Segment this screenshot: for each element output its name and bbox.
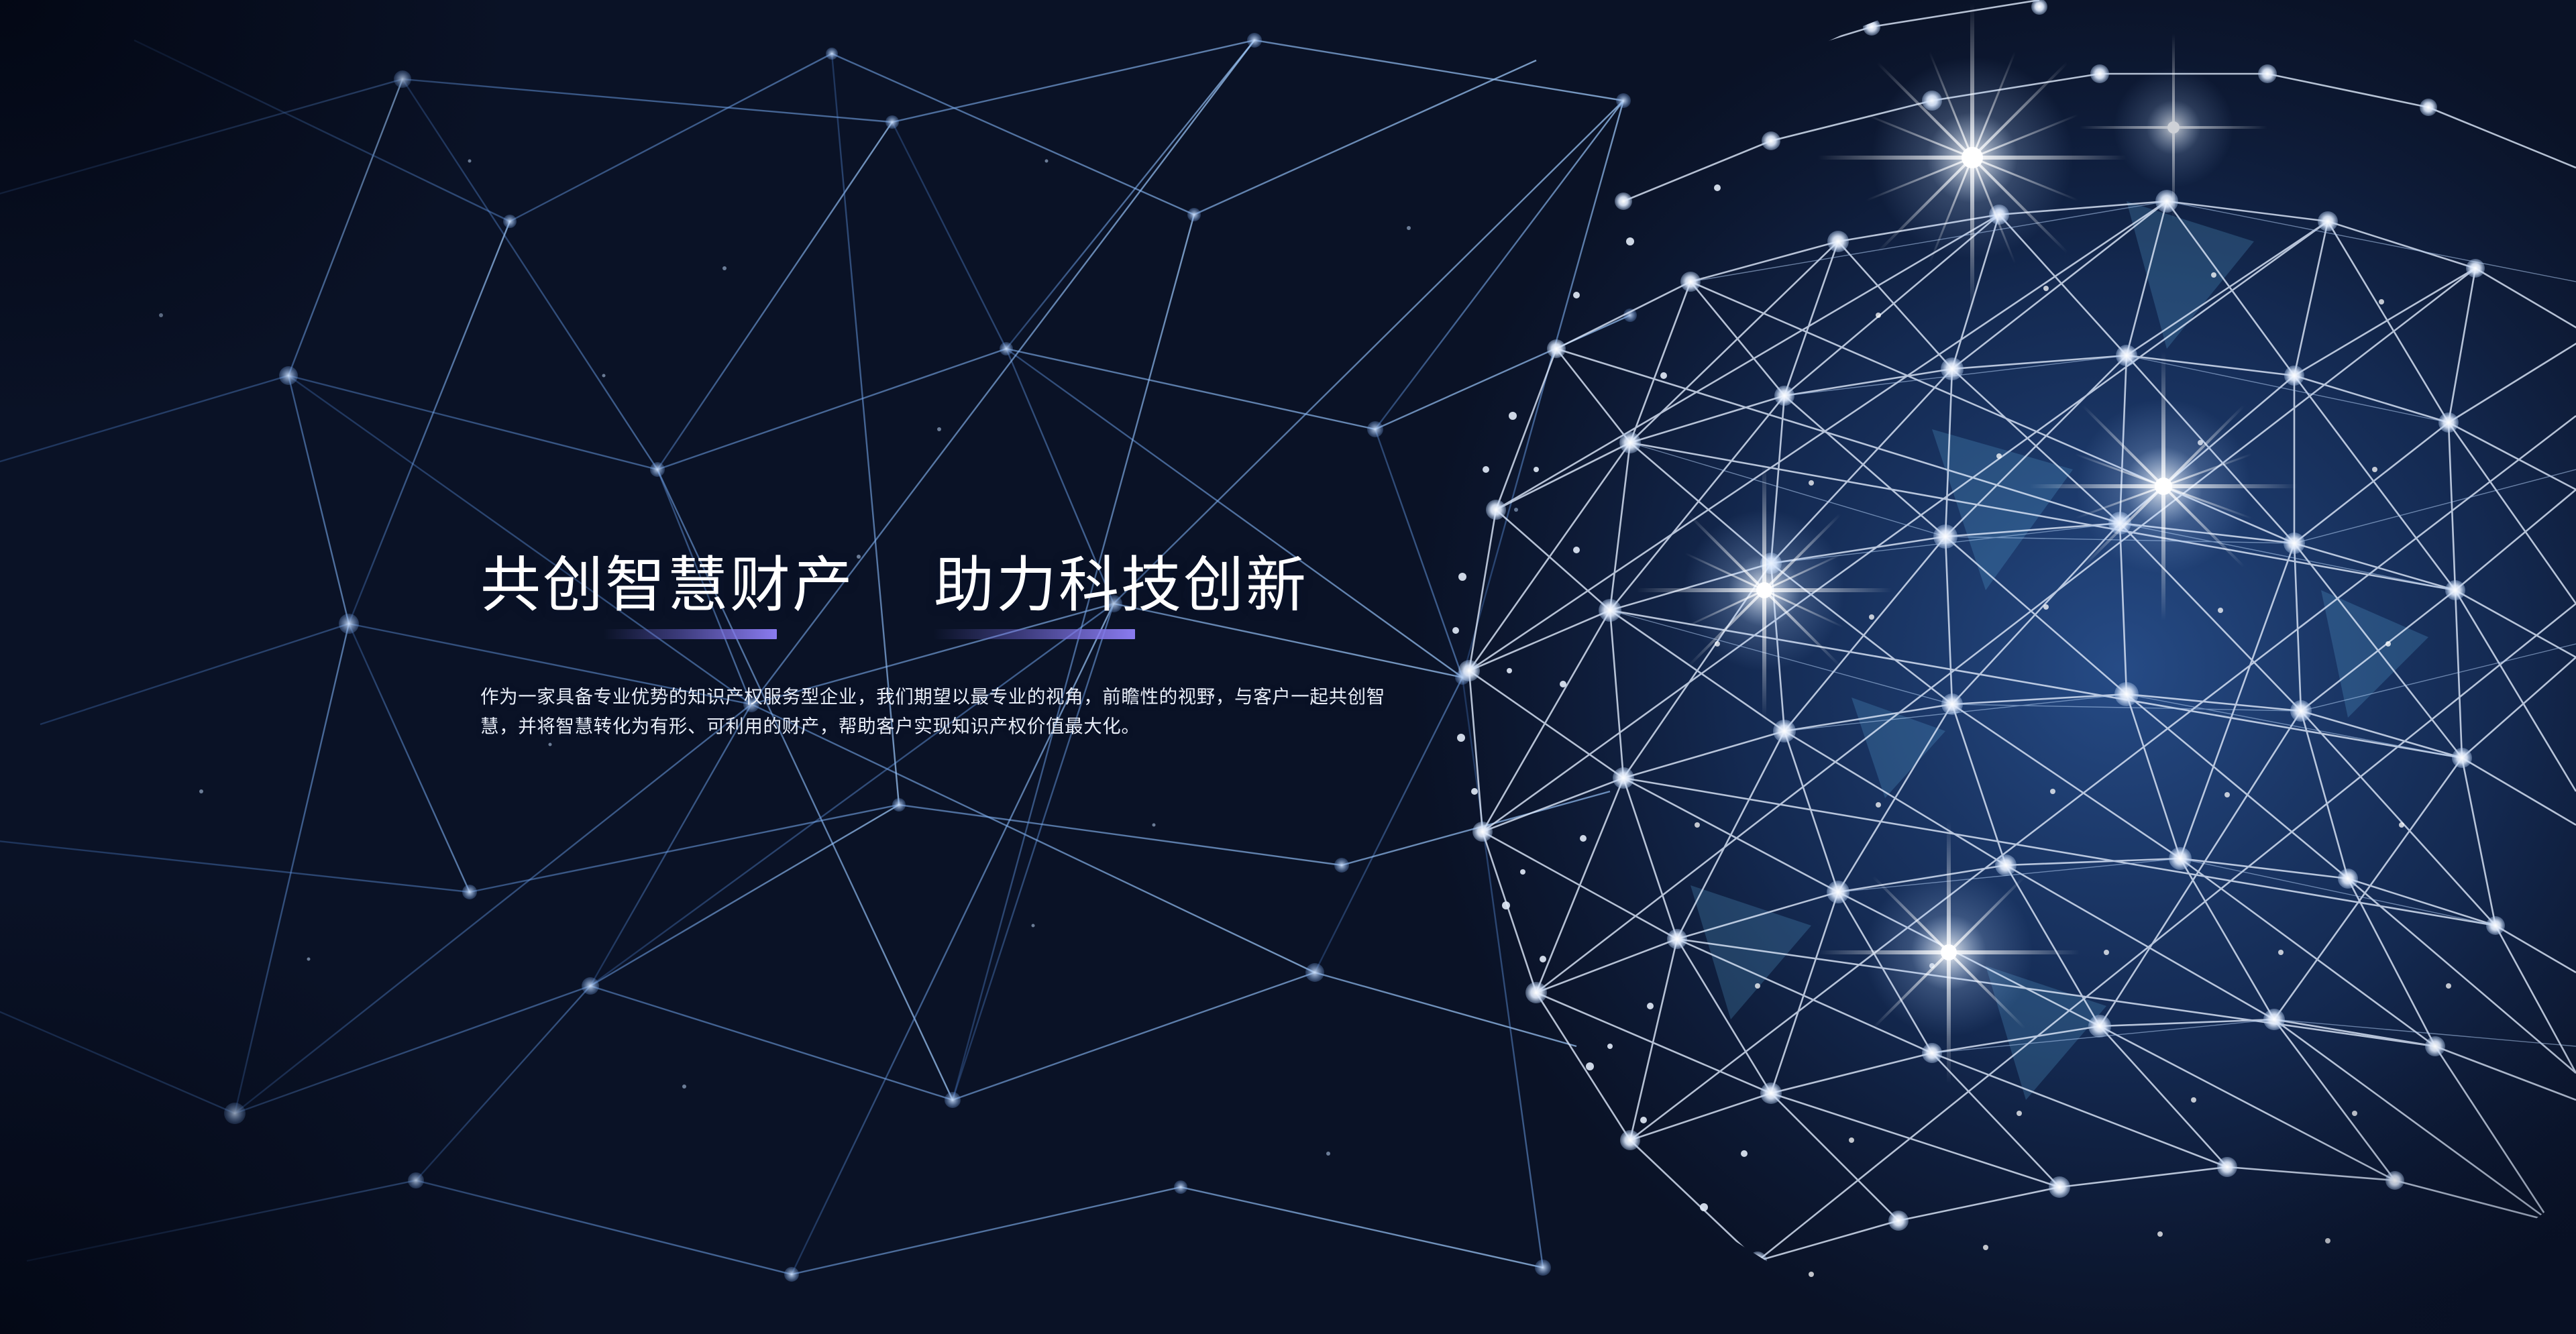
hero-banner: 共创智慧财产 助力科技创新 作为一家具备专业优势的知识产权服务型企业，我们期望以…: [0, 0, 2576, 1334]
headline-phrase-1-text: 共创智慧财产: [480, 552, 855, 619]
headline-phrase-2: 助力科技创新: [934, 554, 1308, 618]
hero-description: 作为一家具备专业优势的知识产权服务型企业，我们期望以最专业的视角，前瞻性的视野，…: [480, 682, 1387, 741]
headline-phrase-2-text: 助力科技创新: [934, 552, 1308, 619]
headline-accent-bar-1: [604, 629, 777, 639]
page-title: 共创智慧财产 助力科技创新: [480, 554, 1419, 618]
hero-text-block: 共创智慧财产 助力科技创新 作为一家具备专业优势的知识产权服务型企业，我们期望以…: [480, 554, 1419, 760]
headline-phrase-1: 共创智慧财产: [480, 554, 855, 618]
headline-accent-bar-2: [934, 629, 1135, 639]
